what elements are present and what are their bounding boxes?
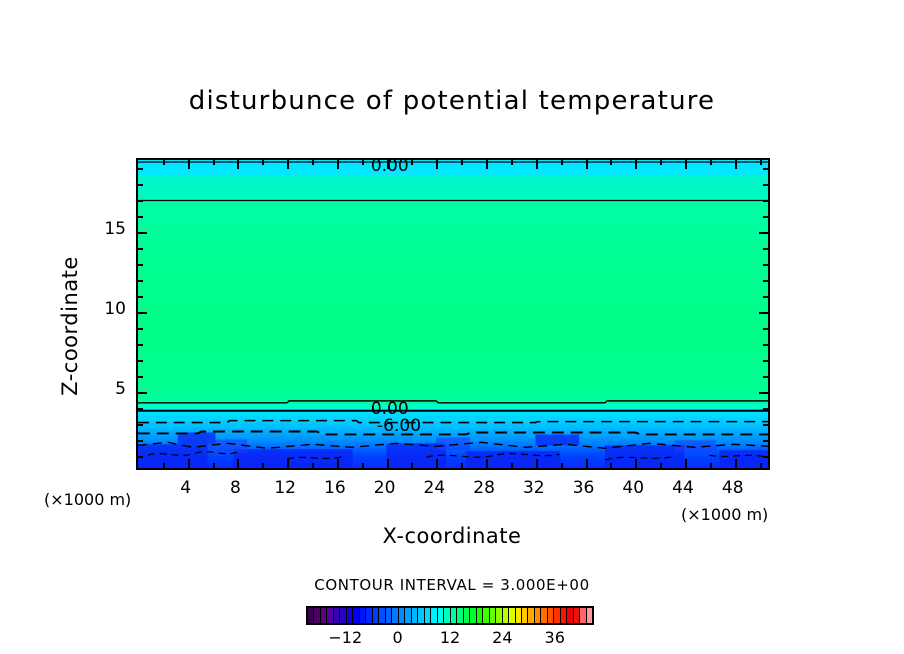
x-axis-tick [536, 459, 538, 468]
x-axis-tick [760, 463, 762, 468]
x-axis-tick-top [486, 160, 488, 169]
x-tick-label: 12 [265, 478, 305, 498]
x-axis-tick-top [387, 160, 389, 169]
y-axis-tick [138, 200, 143, 202]
y-axis-tick-right [763, 328, 768, 330]
x-axis-tick-top [436, 160, 438, 169]
y-tick-label: 15 [96, 219, 126, 239]
x-axis-tick [188, 459, 190, 468]
x-axis-tick-top [561, 160, 563, 165]
x-axis-tick-top [262, 160, 264, 165]
x-tick-label: 4 [166, 478, 206, 498]
colorbar-tick-label: 36 [530, 628, 580, 647]
x-axis-tick [436, 459, 438, 468]
y-axis-tick-right [759, 392, 768, 394]
y-axis-tick-right [763, 440, 768, 442]
x-axis-tick-top [511, 160, 513, 165]
x-tick-label: 28 [464, 478, 504, 498]
x-axis-tick-top [610, 160, 612, 165]
colorbar-tick-label: −12 [320, 628, 370, 647]
y-axis-tick [138, 216, 143, 218]
x-tick-label: 16 [315, 478, 355, 498]
colorbar-cell [587, 608, 592, 623]
y-axis-tick [138, 328, 143, 330]
x-axis-tick-top [685, 160, 687, 169]
y-axis-tick-right [763, 360, 768, 362]
y-axis-tick [138, 312, 147, 314]
x-axis-tick [337, 459, 339, 468]
x-axis-tick-top [237, 160, 239, 169]
x-axis-tick [411, 463, 413, 468]
x-tick-label: 24 [414, 478, 454, 498]
y-axis-tick [138, 280, 143, 282]
y-axis-tick [138, 376, 143, 378]
figure-canvas: disturbunce of potential temperature Z-c… [0, 0, 904, 654]
y-axis-tick [138, 456, 143, 458]
y-axis-tick-right [763, 280, 768, 282]
y-axis-tick-right [763, 296, 768, 298]
y-axis-tick [138, 264, 143, 266]
x-axis-tick [710, 463, 712, 468]
x-axis-tick [635, 459, 637, 468]
y-axis-tick-right [763, 456, 768, 458]
y-axis-tick-right [763, 424, 768, 426]
colorbar-tick-label: 24 [477, 628, 527, 647]
y-axis-tick-right [759, 232, 768, 234]
x-axis-tick [213, 463, 215, 468]
x-axis-tick-top [213, 160, 215, 165]
colorbar-tick-label: 12 [425, 628, 475, 647]
y-axis-unit-label: (×1000 m) [44, 490, 131, 509]
x-tick-label: 40 [613, 478, 653, 498]
x-axis-tick-top [710, 160, 712, 165]
x-tick-label: 8 [215, 478, 255, 498]
y-axis-tick [138, 184, 143, 186]
y-axis-tick-right [759, 312, 768, 314]
x-axis-tick-top [362, 160, 364, 165]
x-axis-tick [610, 463, 612, 468]
x-axis-tick [362, 463, 364, 468]
x-axis-tick [561, 463, 563, 468]
y-axis-tick [138, 424, 143, 426]
x-axis-tick [163, 463, 165, 468]
y-tick-label: 5 [96, 379, 126, 399]
x-axis-tick-top [735, 160, 737, 169]
x-axis-tick [735, 459, 737, 468]
x-axis-tick-top [461, 160, 463, 165]
y-axis-tick-right [763, 248, 768, 250]
x-axis-tick [387, 459, 389, 468]
x-axis-tick [287, 459, 289, 468]
x-axis-tick-top [411, 160, 413, 165]
x-axis-tick [237, 459, 239, 468]
x-axis-tick [262, 463, 264, 468]
contour-plot-panel[interactable]: 0.000.00-6.00 [136, 158, 770, 470]
x-axis-tick [685, 459, 687, 468]
page-title: disturbunce of potential temperature [0, 86, 904, 116]
y-axis-tick [138, 440, 143, 442]
x-axis-tick-top [635, 160, 637, 169]
y-axis-tick [138, 296, 143, 298]
y-axis-tick [138, 248, 143, 250]
y-axis-tick-right [763, 376, 768, 378]
x-axis-tick [660, 463, 662, 468]
x-axis-tick [511, 463, 513, 468]
x-tick-label: 36 [564, 478, 604, 498]
x-axis-tick [486, 459, 488, 468]
x-axis-tick-top [337, 160, 339, 169]
x-axis-tick-top [312, 160, 314, 165]
x-axis-tick [586, 459, 588, 468]
x-axis-title: X-coordinate [0, 524, 904, 548]
colorbar[interactable] [306, 606, 594, 625]
x-tick-label: 44 [663, 478, 703, 498]
y-axis-tick-right [763, 168, 768, 170]
x-axis-tick-top [760, 160, 762, 165]
x-axis-tick [461, 463, 463, 468]
x-axis-tick-top [586, 160, 588, 169]
contour-label: 0.00 [371, 158, 409, 176]
x-tick-label: 32 [514, 478, 554, 498]
temperature-field [138, 160, 768, 468]
y-axis-title: Z-coordinate [58, 216, 82, 436]
y-axis-tick [138, 168, 143, 170]
x-axis-tick-top [660, 160, 662, 165]
x-axis-unit-label: (×1000 m) [681, 505, 768, 524]
y-axis-tick-right [763, 408, 768, 410]
y-tick-label: 10 [96, 299, 126, 319]
y-axis-tick-right [763, 264, 768, 266]
y-axis-tick [138, 392, 147, 394]
y-axis-tick [138, 232, 147, 234]
x-axis-tick [312, 463, 314, 468]
y-axis-tick-right [763, 216, 768, 218]
x-axis-tick-top [163, 160, 165, 165]
x-tick-label: 48 [713, 478, 753, 498]
y-axis-tick-right [763, 184, 768, 186]
y-axis-tick [138, 344, 143, 346]
y-axis-tick-right [763, 200, 768, 202]
contour-label: -6.00 [377, 416, 421, 436]
x-tick-label: 20 [365, 478, 405, 498]
contour-interval-caption: CONTOUR INTERVAL = 3.000E+00 [0, 576, 904, 594]
y-axis-tick [138, 408, 143, 410]
colorbar-tick-label: 0 [373, 628, 423, 647]
y-axis-tick [138, 360, 143, 362]
x-axis-tick-top [188, 160, 190, 169]
x-axis-tick-top [287, 160, 289, 169]
x-axis-tick-top [536, 160, 538, 169]
y-axis-tick-right [763, 344, 768, 346]
